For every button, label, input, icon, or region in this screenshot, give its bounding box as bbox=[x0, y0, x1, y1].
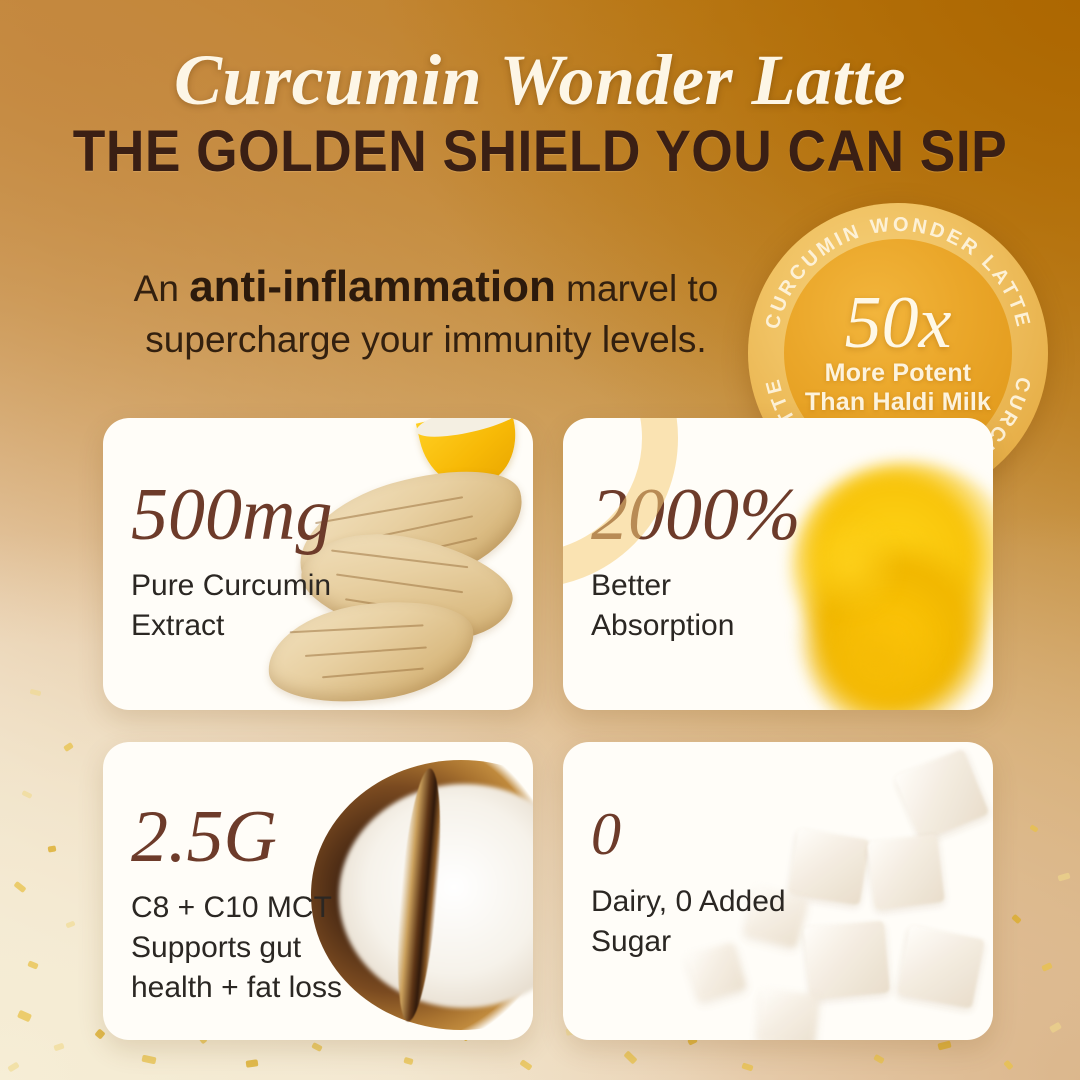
subheading-emphasis: anti-inflammation bbox=[189, 262, 556, 311]
stat-card-mct-text: 2.5G C8 + C10 MCT Supports gut health + … bbox=[131, 800, 342, 1009]
powder-cloud-large bbox=[791, 462, 993, 672]
stat-card-absorption-text: 2000% Better Absorption bbox=[591, 478, 801, 646]
badge-multiplier: 50x bbox=[845, 289, 952, 359]
stat-card-sugar: 0 Dairy, 0 Added Sugar bbox=[563, 742, 993, 1040]
stat-description: Pure Curcumin Extract bbox=[131, 566, 332, 646]
subheading-copy: An anti-inflammation marvel to superchar… bbox=[76, 258, 776, 365]
stat-value: 500mg bbox=[131, 478, 332, 552]
coconut-shell bbox=[311, 760, 533, 1030]
sugar-cube bbox=[804, 921, 890, 1000]
coconut-flesh bbox=[339, 784, 533, 1008]
stat-value: 2000% bbox=[591, 478, 801, 552]
badge-claim-line-1: More Potent bbox=[825, 359, 972, 388]
powder-cloud-wisp bbox=[805, 514, 897, 618]
stat-value: 2.5G bbox=[131, 800, 342, 874]
sugar-cube bbox=[756, 989, 819, 1040]
stat-card-sugar-text: 0 Dairy, 0 Added Sugar bbox=[591, 804, 786, 962]
badge-claim-line-2: Than Haldi Milk bbox=[805, 388, 991, 417]
sugar-cube bbox=[867, 834, 945, 910]
stat-description: Dairy, 0 Added Sugar bbox=[591, 882, 786, 962]
stat-value: 0 bbox=[591, 804, 786, 864]
spoon-rim-icon bbox=[413, 418, 526, 444]
poster-header: Curcumin Wonder Latte THE GOLDEN SHIELD … bbox=[0, 42, 1080, 183]
sugar-cube bbox=[788, 829, 869, 905]
coconut-husk-edge bbox=[390, 767, 448, 1023]
script-title: Curcumin Wonder Latte bbox=[0, 42, 1080, 118]
stat-description: Better Absorption bbox=[591, 566, 801, 646]
stat-description: C8 + C10 MCT Supports gut health + fat l… bbox=[131, 888, 342, 1009]
stat-card-mct: 2.5G C8 + C10 MCT Supports gut health + … bbox=[103, 742, 533, 1040]
sugar-cube bbox=[897, 925, 985, 1008]
powder-cloud-medium bbox=[799, 536, 989, 710]
stat-card-absorption: 2000% Better Absorption bbox=[563, 418, 993, 710]
headline-title: THE GOLDEN SHIELD YOU CAN SIP bbox=[43, 122, 1037, 182]
poster-canvas: Curcumin Wonder Latte THE GOLDEN SHIELD … bbox=[0, 0, 1080, 1080]
powder-cloud-small bbox=[801, 600, 951, 710]
stat-card-curcumin: 500mg Pure Curcumin Extract bbox=[103, 418, 533, 710]
stat-card-curcumin-text: 500mg Pure Curcumin Extract bbox=[131, 478, 332, 646]
subheading-lead: An bbox=[134, 268, 190, 309]
spoon-bowl-icon bbox=[416, 418, 526, 496]
sugar-cube bbox=[895, 749, 990, 842]
